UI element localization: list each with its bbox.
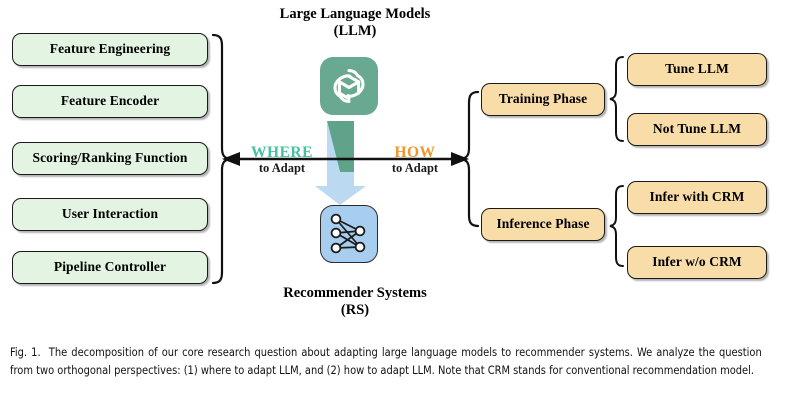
where-item-feature-engineering[interactable]: Feature Engineering: [12, 33, 208, 66]
option-label: Infer w/o CRM: [652, 255, 742, 269]
phase-inference[interactable]: Inference Phase: [481, 208, 605, 241]
where-item-label: Feature Engineering: [50, 42, 171, 56]
phase-label: Training Phase: [499, 92, 588, 106]
option-infer-wo-crm[interactable]: Infer w/o CRM: [627, 246, 767, 279]
where-item-label: Scoring/Ranking Function: [32, 151, 187, 165]
option-label: Not Tune LLM: [653, 122, 741, 136]
where-item-user-interaction[interactable]: User Interaction: [12, 198, 208, 231]
openai-logo-icon: [320, 57, 378, 115]
option-label: Tune LLM: [665, 62, 729, 76]
rs-title-line2: (RS): [341, 302, 369, 318]
option-not-tune-llm[interactable]: Not Tune LLM: [627, 113, 767, 146]
how-sub: to Adapt: [355, 161, 475, 175]
training-brace: [610, 57, 623, 141]
where-sub: to Adapt: [222, 161, 342, 175]
phase-label: Inference Phase: [496, 217, 589, 231]
where-item-label: Feature Encoder: [61, 94, 159, 108]
figure-caption: Fig. 1. The decomposition of our core re…: [10, 344, 762, 379]
where-item-label: User Interaction: [62, 207, 158, 221]
where-to-adapt-label: WHERE to Adapt: [222, 144, 342, 175]
figure-panel: Feature Engineering Feature Encoder Scor…: [0, 0, 797, 336]
neural-network-icon: [320, 205, 378, 263]
where-item-pipeline-controller[interactable]: Pipeline Controller: [12, 251, 208, 284]
llm-title-line1: Large Language Models: [280, 6, 431, 22]
rs-title: Recommender Systems (RS): [235, 285, 475, 319]
how-headline: HOW: [355, 144, 475, 161]
llm-title-line2: (LLM): [334, 23, 377, 39]
option-label: Infer with CRM: [650, 190, 745, 204]
figure-number: Fig. 1.: [10, 345, 41, 359]
llm-title: Large Language Models (LLM): [235, 6, 475, 40]
option-tune-llm[interactable]: Tune LLM: [627, 53, 767, 86]
where-item-feature-encoder[interactable]: Feature Encoder: [12, 85, 208, 118]
inference-brace: [610, 186, 623, 266]
where-item-label: Pipeline Controller: [54, 260, 166, 274]
where-item-scoring-ranking-function[interactable]: Scoring/Ranking Function: [12, 142, 208, 175]
how-to-adapt-label: HOW to Adapt: [355, 144, 475, 175]
caption-text: The decomposition of our core research q…: [10, 345, 762, 377]
rs-title-line1: Recommender Systems: [283, 285, 427, 301]
phase-training[interactable]: Training Phase: [481, 83, 605, 116]
where-headline: WHERE: [222, 144, 342, 161]
option-infer-with-crm[interactable]: Infer with CRM: [627, 181, 767, 214]
